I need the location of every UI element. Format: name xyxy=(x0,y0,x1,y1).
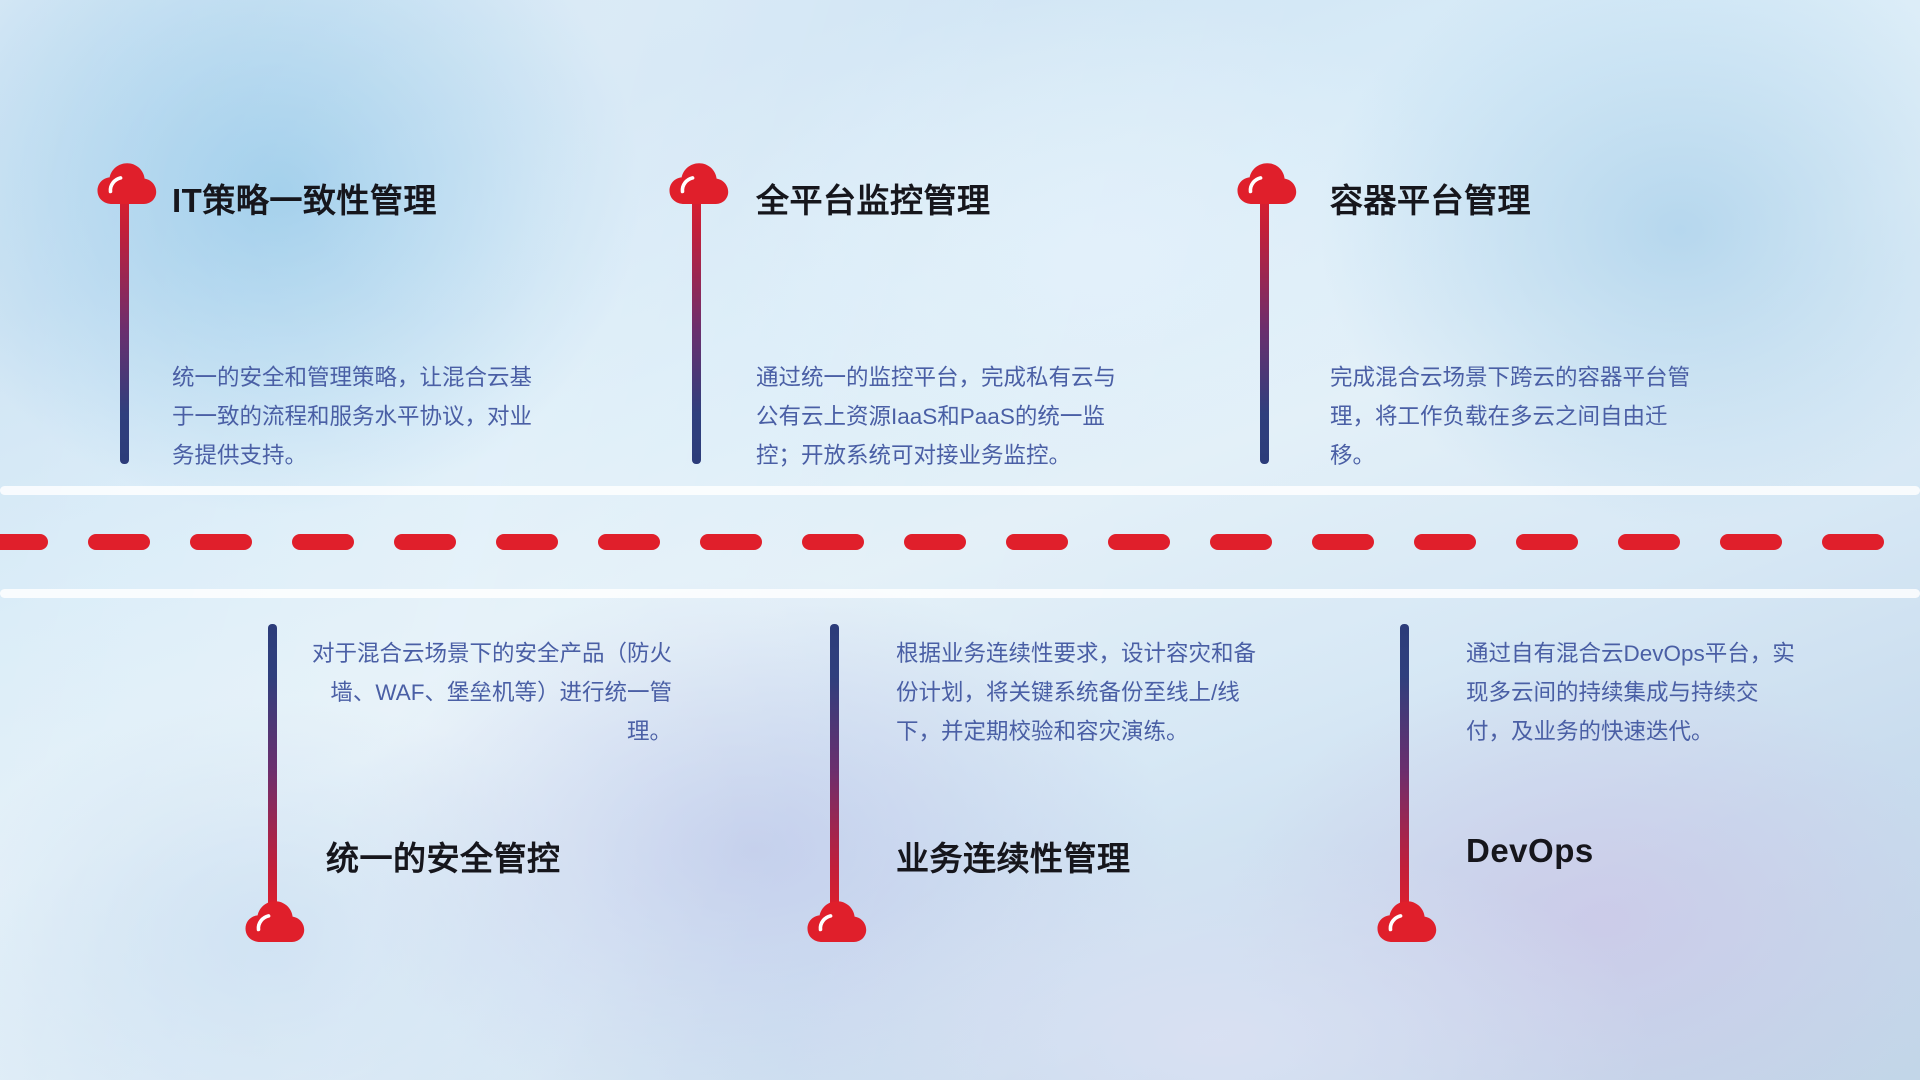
divider-rule-top xyxy=(0,486,1920,495)
divider-dash xyxy=(598,534,660,550)
stem-line xyxy=(692,186,701,464)
bottom-body-1: 对于混合云场景下的安全产品（防火墙、WAF、堡垒机等）进行统一管理。 xyxy=(312,634,672,751)
divider-dash xyxy=(394,534,456,550)
top-title-2: 全平台监控管理 xyxy=(756,174,991,222)
divider-dash xyxy=(904,534,966,550)
cloud-icon xyxy=(96,160,158,206)
divider-dash xyxy=(1618,534,1680,550)
bottom-body-1-text: 对于混合云场景下的安全产品（防火墙、WAF、堡垒机等）进行统一管理。 xyxy=(312,634,672,751)
divider-dash xyxy=(190,534,252,550)
top-body-3: 完成混合云场景下跨云的容器平台管理，将工作负载在多云之间自由迁移。 xyxy=(1330,358,1690,475)
cloud-icon xyxy=(1236,160,1298,206)
top-body-2: 通过统一的监控平台，完成私有云与公有云上资源IaaS和PaaS的统一监控；开放系… xyxy=(756,358,1116,475)
stem-line xyxy=(830,624,839,914)
divider-dash xyxy=(1312,534,1374,550)
top-title-3: 容器平台管理 xyxy=(1330,174,1531,222)
divider-dash xyxy=(700,534,762,550)
stem-line xyxy=(268,624,277,914)
cloud-icon xyxy=(668,160,730,206)
top-body-1: 统一的安全和管理策略，让混合云基于一致的流程和服务水平协议，对业务提供支持。 xyxy=(172,358,532,475)
bottom-body-3: 通过自有混合云DevOps平台，实现多云间的持续集成与持续交付，及业务的快速迭代… xyxy=(1466,634,1796,751)
top-body-1-text: 统一的安全和管理策略，让混合云基于一致的流程和服务水平协议，对业务提供支持。 xyxy=(172,358,532,475)
bottom-body-2: 根据业务连续性要求，设计容灾和备份计划，将关键系统备份至线上/线下，并定期校验和… xyxy=(896,634,1256,751)
divider-dash xyxy=(1006,534,1068,550)
divider-dash xyxy=(802,534,864,550)
section-divider xyxy=(0,486,1920,598)
infographic-canvas: IT策略一致性管理 统一的安全和管理策略，让混合云基于一致的流程和服务水平协议，… xyxy=(0,0,1920,1080)
cloud-icon xyxy=(244,898,306,944)
divider-dash xyxy=(88,534,150,550)
divider-rule-bottom xyxy=(0,589,1920,598)
divider-dash xyxy=(292,534,354,550)
divider-dash xyxy=(1414,534,1476,550)
top-title-1: IT策略一致性管理 xyxy=(172,174,437,222)
bottom-title-2: 业务连续性管理 xyxy=(896,832,1131,880)
cloud-icon xyxy=(1376,898,1438,944)
divider-dashed-line xyxy=(0,534,1920,550)
stem-line xyxy=(1400,624,1409,914)
bottom-title-3: DevOps xyxy=(1466,832,1594,870)
divider-dash xyxy=(1822,534,1884,550)
cloud-icon xyxy=(806,898,868,944)
bottom-title-1: 统一的安全管控 xyxy=(326,832,561,880)
stem-line xyxy=(1260,186,1269,464)
bottom-body-3-text: 通过自有混合云DevOps平台，实现多云间的持续集成与持续交付，及业务的快速迭代… xyxy=(1466,634,1796,751)
divider-dash xyxy=(1516,534,1578,550)
divider-dash xyxy=(496,534,558,550)
top-body-2-text: 通过统一的监控平台，完成私有云与公有云上资源IaaS和PaaS的统一监控；开放系… xyxy=(756,358,1116,475)
bottom-body-2-text: 根据业务连续性要求，设计容灾和备份计划，将关键系统备份至线上/线下，并定期校验和… xyxy=(896,634,1256,751)
top-body-3-text: 完成混合云场景下跨云的容器平台管理，将工作负载在多云之间自由迁移。 xyxy=(1330,358,1690,475)
divider-dash xyxy=(1720,534,1782,550)
stem-line xyxy=(120,186,129,464)
divider-dash xyxy=(1210,534,1272,550)
divider-dash xyxy=(0,534,48,550)
divider-dash xyxy=(1108,534,1170,550)
